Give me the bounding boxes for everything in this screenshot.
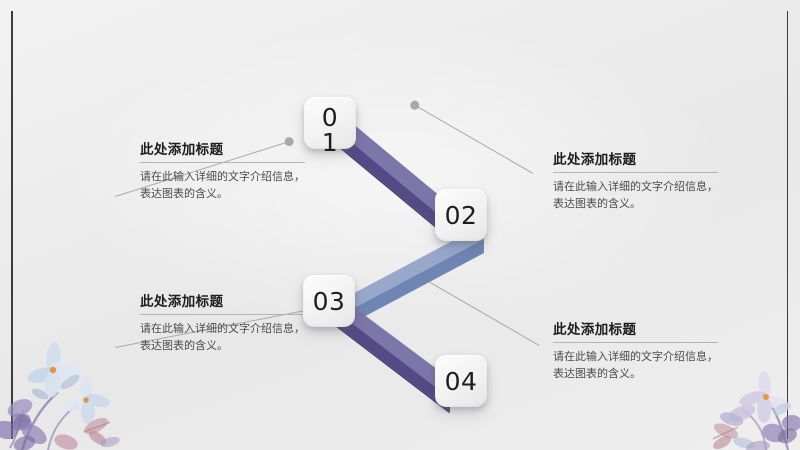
step-body: 请在此输入详细的文字介绍信息，表达图表的含义。 xyxy=(553,348,718,382)
text-block-03: 此处添加标题 请在此输入详细的文字介绍信息，表达图表的含义。 xyxy=(140,290,305,354)
text-block-04: 此处添加标题 请在此输入详细的文字介绍信息，表达图表的含义。 xyxy=(553,318,718,382)
step-number-chip-04[interactable]: 04 xyxy=(435,355,487,407)
step-heading: 此处添加标题 xyxy=(553,318,718,342)
frame-rule-right xyxy=(787,11,789,439)
heading-underline xyxy=(140,314,305,315)
step-number-label: 02 xyxy=(445,203,478,228)
step-number-chip-01[interactable]: 01 xyxy=(304,97,356,149)
step-number-chip-03[interactable]: 03 xyxy=(303,275,355,327)
step-number-chip-02[interactable]: 02 xyxy=(435,189,487,241)
step-number-label: 04 xyxy=(445,369,478,394)
heading-underline xyxy=(553,172,718,173)
heading-underline xyxy=(140,162,305,163)
text-block-02: 此处添加标题 请在此输入详细的文字介绍信息，表达图表的含义。 xyxy=(553,148,718,212)
floral-decoration-bottom-left xyxy=(0,330,150,450)
leader-dot xyxy=(409,99,421,111)
heading-underline xyxy=(553,342,718,343)
slide-canvas: 01 02 03 04 此处添加标题 请在此输入详细的文字介绍信息，表达图表的含… xyxy=(0,0,800,450)
step-body: 请在此输入详细的文字介绍信息，表达图表的含义。 xyxy=(140,320,305,354)
step-heading: 此处添加标题 xyxy=(140,138,305,162)
step-body: 请在此输入详细的文字介绍信息，表达图表的含义。 xyxy=(140,168,305,202)
step-heading: 此处添加标题 xyxy=(553,148,718,172)
text-block-01: 此处添加标题 请在此输入详细的文字介绍信息，表达图表的含义。 xyxy=(140,138,305,202)
frame-rule-left xyxy=(11,11,13,439)
step-heading: 此处添加标题 xyxy=(140,290,305,314)
step-body: 请在此输入详细的文字介绍信息，表达图表的含义。 xyxy=(553,178,718,212)
step-number-label: 01 xyxy=(317,97,343,155)
step-number-label: 03 xyxy=(313,289,346,314)
